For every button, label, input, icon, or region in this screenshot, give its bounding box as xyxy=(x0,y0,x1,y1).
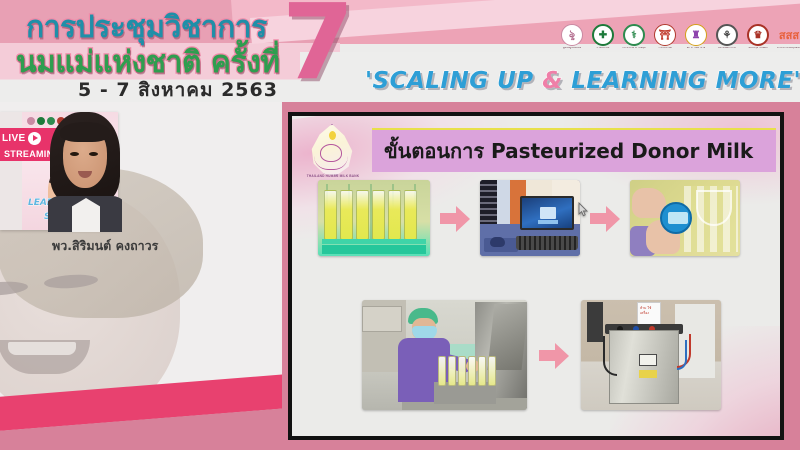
sponsor-logo: ৡ มูลนิธิศูนย์นมแม่ xyxy=(560,24,584,50)
slide-stage: การประชุมวิชาการ นมแม่แห่งชาติ ครั้งที่ … xyxy=(0,0,800,450)
tagline-suffix: LEARNING MORE' xyxy=(563,68,800,94)
cabinet-door xyxy=(362,306,402,332)
milk-bottle xyxy=(448,356,456,386)
public-health-logo: ✚ xyxy=(592,24,614,46)
process-photo-milk-bottles xyxy=(318,180,430,256)
sponsor-logo: ⚕ กระทรวงสาธารณสุข xyxy=(622,24,646,50)
flow-arrow-1 xyxy=(440,205,470,231)
wire-basket xyxy=(696,190,732,226)
process-flow-diagram: ห้าม ใช้ เครื่อง xyxy=(292,176,780,436)
milk-bottle xyxy=(404,190,417,240)
rack-base xyxy=(322,245,426,254)
live-badge-label: LIVE xyxy=(2,133,25,144)
milk-droplet-icon xyxy=(329,131,336,140)
sponsor-logo-strip: ৡ มูลนิธิศูนย์นมแม่ ✚ กรมอนามัย ⚕ กระทรว… xyxy=(560,24,800,50)
pediatric-society-logo: ♛ xyxy=(747,24,769,46)
poster-logo-icon xyxy=(27,117,35,125)
play-icon xyxy=(28,132,41,145)
slide-title-banner: ขั้นตอนการ Pasteurized Donor Milk xyxy=(372,128,776,172)
conference-header-banner: การประชุมวิชาการ นมแม่แห่งชาติ ครั้งที่ … xyxy=(0,0,800,102)
watermark-teeth xyxy=(8,342,76,355)
tagline-ampersand: & xyxy=(542,68,563,94)
wall-dark-panel xyxy=(587,302,603,342)
milk-bottle xyxy=(356,190,369,240)
milk-bottle xyxy=(458,356,466,386)
machine-display xyxy=(639,354,657,366)
computer-mouse xyxy=(490,237,505,247)
presenter-fringe xyxy=(60,122,110,142)
milk-bottle xyxy=(324,190,337,240)
flow-arrow-3 xyxy=(539,342,569,368)
sponsor-logo: ✚ กรมอนามัย xyxy=(591,24,615,50)
thai-breastfeeding-logo: ৡ xyxy=(561,24,583,46)
process-photo-laptop-record xyxy=(480,180,580,256)
conference-dates: 5 - 7 สิงหาคม 2563 xyxy=(78,75,278,102)
conference-tagline: 'SCALING UP & LEARNING MORE' xyxy=(365,68,795,94)
machine-body xyxy=(609,330,679,404)
digital-timer-icon xyxy=(660,202,692,234)
warning-sign: ห้าม ใช้ เครื่อง xyxy=(637,302,661,326)
milk-bottle xyxy=(340,190,353,240)
timer-display xyxy=(668,212,688,224)
milk-bottle xyxy=(372,190,385,240)
process-photo-nurse-loading xyxy=(362,300,527,410)
milk-bottle xyxy=(468,356,476,386)
milk-bottle xyxy=(478,356,486,386)
presenter-webcam-overlay xyxy=(48,112,122,232)
milk-bottle xyxy=(388,190,401,240)
screen-window-icon xyxy=(540,207,556,219)
speaker-name-label: พว.สิริมนต์ คงถาวร xyxy=(52,236,262,256)
process-flow-row-top xyxy=(318,180,740,256)
sponsor-logo: ⚘ สมาคมพยาบาล xyxy=(715,24,739,50)
process-photo-pasteurizer-machine: ห้าม ใช้ เครื่อง xyxy=(581,300,721,410)
presentation-slide-panel: THAILAND HUMAN MILK BANK ขั้นตอนการ Past… xyxy=(288,112,784,440)
royal-college-logo: ⛩ xyxy=(654,24,676,46)
poster-logo-icon xyxy=(37,117,45,125)
milk-bottle xyxy=(438,356,446,386)
medical-council-logo: ⚕ xyxy=(623,24,645,46)
wall-blinds xyxy=(480,180,497,226)
royal-emblem-logo: ♜ xyxy=(685,24,707,46)
sponsor-logo: สสส สำนักงานกองทุนสนับสนุน xyxy=(777,24,800,50)
presenter-eye-left xyxy=(70,152,79,156)
machine-label-sticker xyxy=(639,370,657,378)
process-photo-timer-temperature xyxy=(630,180,740,256)
nursing-council-logo: ⚘ xyxy=(716,24,738,46)
machine-black-hose xyxy=(603,336,617,376)
slide-title-text: ขั้นตอนการ Pasteurized Donor Milk xyxy=(384,135,753,167)
sponsor-logo: ♛ ชมรมกุมารแพทย์ xyxy=(746,24,770,50)
laptop-screen xyxy=(520,196,574,230)
screen-taskbar xyxy=(538,220,558,224)
laptop-keyboard xyxy=(516,236,578,250)
milk-bottle xyxy=(488,356,496,386)
process-flow-row-bottom: ห้าม ใช้ เครื่อง xyxy=(362,300,721,410)
presenter-eye-right xyxy=(89,152,98,156)
bottom-pink-strip xyxy=(0,440,800,450)
flow-arrow-2 xyxy=(590,205,620,231)
sponsor-logo: ⛩ ราชวิทยาลัย xyxy=(653,24,677,50)
thaihealth-logo: สสส xyxy=(778,24,800,46)
mouse-cursor xyxy=(578,202,589,217)
sponsor-logo: ♜ สภาการพยาบาล xyxy=(684,24,708,50)
tagline-prefix: 'SCALING UP xyxy=(365,68,542,94)
rack-shelf xyxy=(322,239,426,244)
warning-sign-text: ห้าม ใช้ เครื่อง xyxy=(640,306,660,316)
conference-edition-number: 7 xyxy=(282,0,354,94)
